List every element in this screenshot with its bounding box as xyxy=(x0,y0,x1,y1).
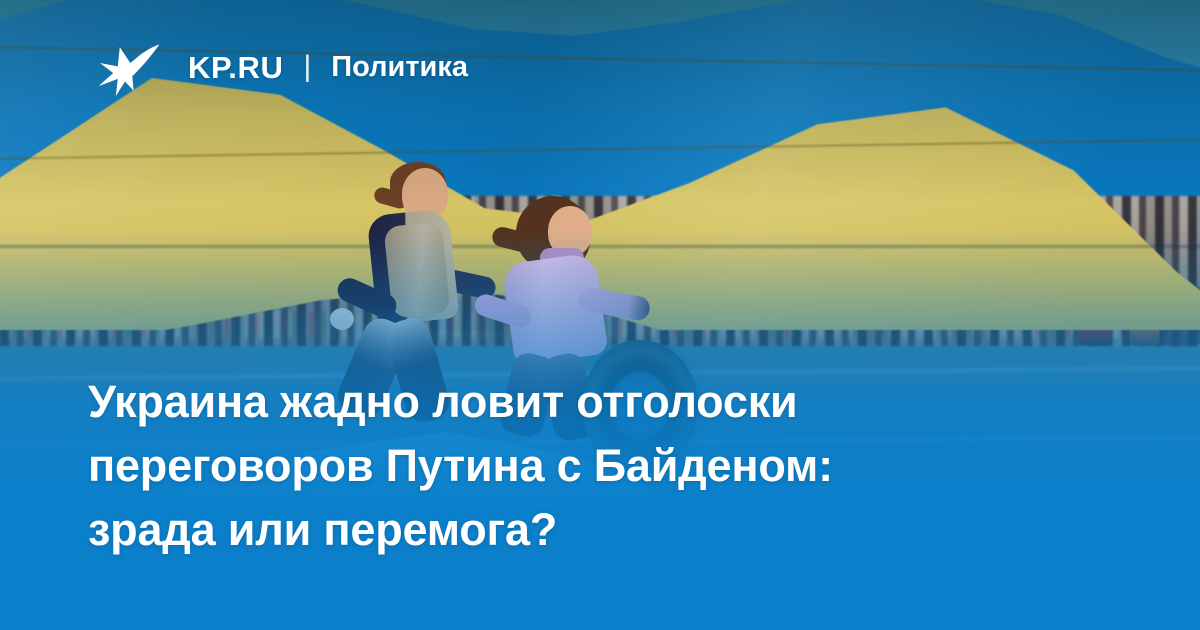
headline-line-1: Украина жадно ловит отголоски xyxy=(88,370,1080,434)
rubric-label[interactable]: Политика xyxy=(331,53,468,82)
top-darkening-overlay xyxy=(0,0,1200,200)
header-divider: | xyxy=(303,52,311,82)
headline: Украина жадно ловит отголоски переговоро… xyxy=(88,370,1080,562)
headline-line-2: переговоров Путина с Байденом: xyxy=(88,434,1080,498)
brand-header: KP.RU | Политика xyxy=(96,34,468,100)
share-card: KP.RU | Политика Украина жадно ловит отг… xyxy=(0,0,1200,630)
swallow-bird-logo-icon[interactable] xyxy=(96,34,162,100)
headline-line-3: зрада или перемога? xyxy=(88,498,1080,562)
brand-label[interactable]: KP.RU xyxy=(188,52,283,83)
